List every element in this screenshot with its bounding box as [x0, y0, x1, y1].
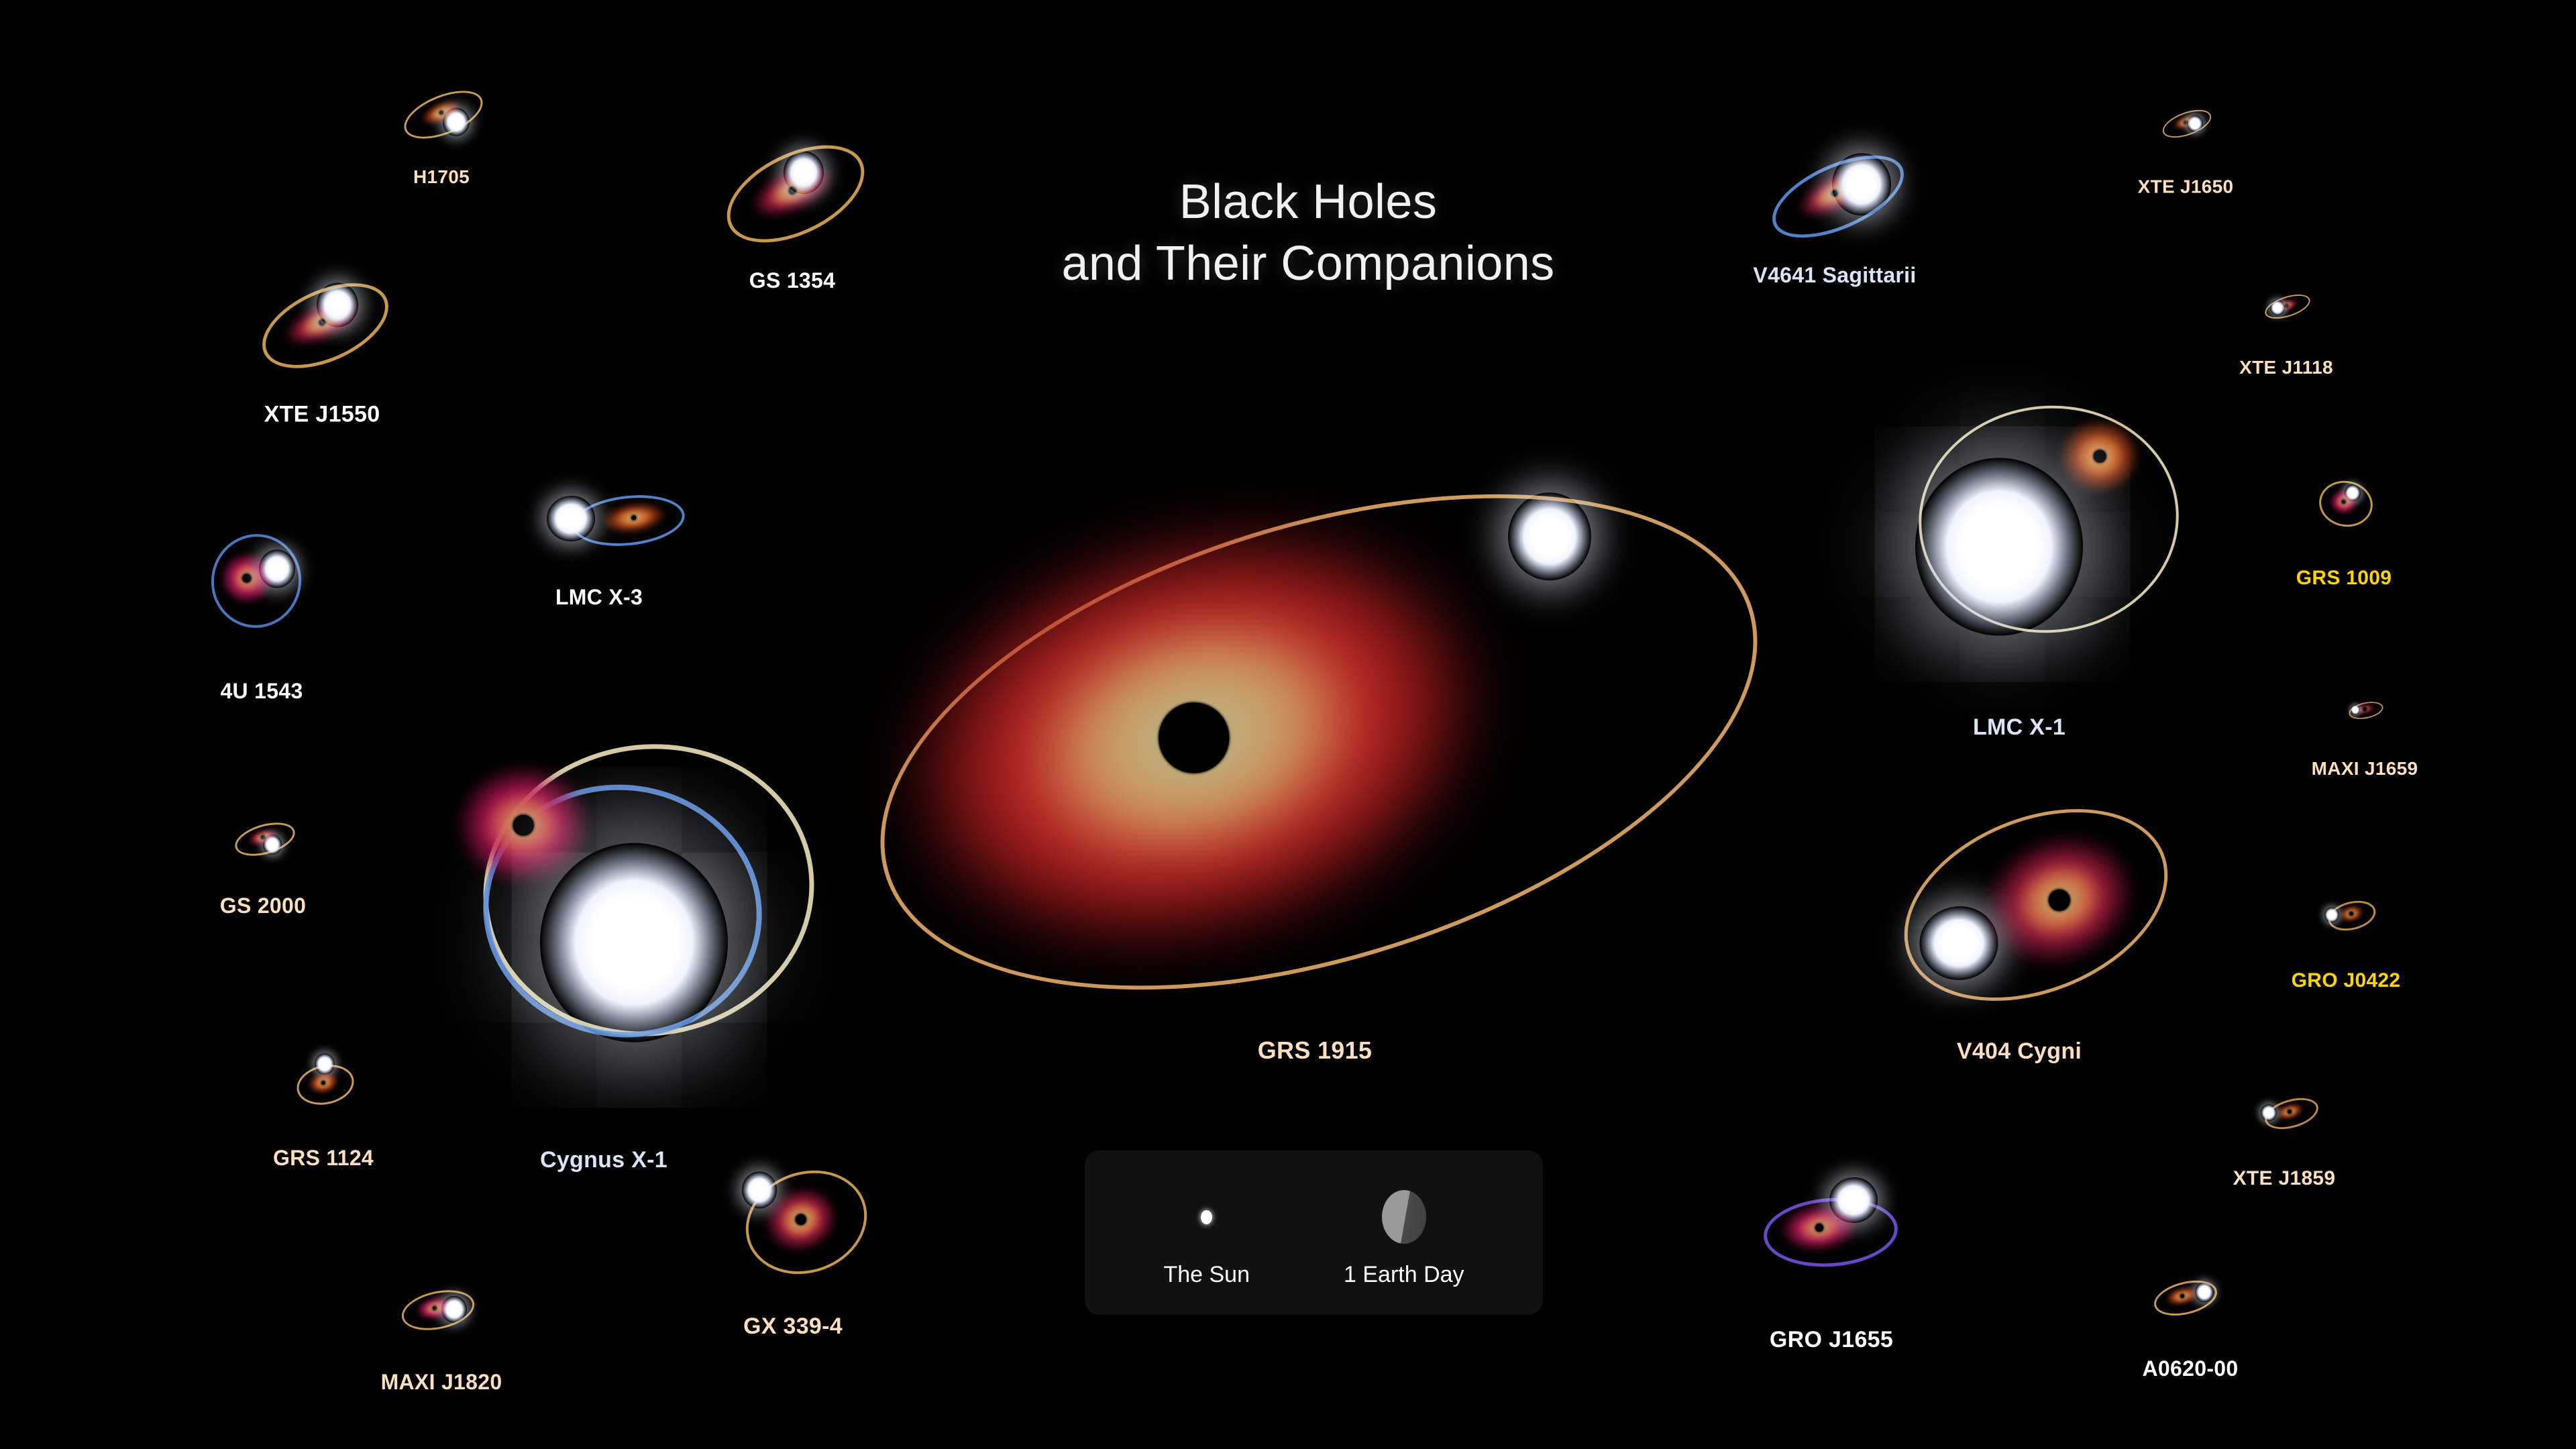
system-illustration	[205, 531, 319, 625]
system-illustration	[229, 815, 297, 859]
system-illustration	[2254, 1093, 2314, 1130]
system-label: LMC X-1	[1973, 714, 2065, 741]
black-hole-system[interactable]: MAXI J1659	[2346, 698, 2383, 720]
system-label: MAXI J1659	[2312, 758, 2418, 780]
black-hole-system[interactable]: 4U 1543	[205, 531, 319, 625]
black-hole-system[interactable]: GS 2000	[229, 815, 297, 859]
black-hole-system[interactable]: GRS 1124	[290, 1051, 357, 1104]
system-illustration	[2346, 698, 2383, 720]
legend-item-sun: The Sun	[1163, 1177, 1250, 1288]
system-illustration	[1872, 812, 2167, 1013]
system-illustration	[2314, 478, 2374, 525]
black-hole-system[interactable]: V404 Cygni	[1872, 812, 2167, 1013]
black-hole-system[interactable]: GRO J0422	[2320, 896, 2372, 931]
system-illustration	[852, 483, 1778, 966]
black-hole-system[interactable]: A0620-00	[2153, 1275, 2227, 1318]
black-hole-system[interactable]: LMC X-1	[1878, 406, 2160, 654]
title-line-1: Black Holes	[1179, 175, 1438, 229]
system-illustration	[2320, 896, 2372, 931]
system-illustration	[401, 86, 482, 140]
black-hole-shadow	[513, 815, 534, 836]
system-label: V404 Cygni	[1957, 1038, 2082, 1065]
system-illustration	[290, 1051, 357, 1104]
legend-sun-label: The Sun	[1163, 1262, 1250, 1288]
system-label: 4U 1543	[220, 679, 303, 704]
system-label: GRS 1009	[2296, 567, 2392, 590]
system-label: Cygnus X-1	[540, 1147, 667, 1173]
legend-item-earth-day: 1 Earth Day	[1344, 1177, 1464, 1288]
black-hole-system[interactable]: V4641 Sagittarii	[1761, 143, 1909, 244]
system-illustration	[1761, 1172, 1902, 1273]
companion-star	[2351, 705, 2360, 715]
sky-canvas: Black Holes and Their Companions H1705GS…	[0, 0, 2576, 1449]
system-label: XTE J1859	[2233, 1167, 2336, 1190]
accretion-disk	[456, 765, 590, 885]
system-illustration	[722, 140, 863, 241]
black-hole-system[interactable]: Cygnus X-1	[436, 741, 771, 1057]
system-illustration	[1878, 406, 2160, 654]
system-label: GRS 1124	[273, 1146, 374, 1171]
companion-star	[441, 1296, 467, 1323]
system-label: GRO J0422	[2292, 969, 2401, 992]
black-hole-system[interactable]: XTE J1118	[2261, 289, 2311, 321]
system-label: XTE J1118	[2239, 357, 2333, 378]
companion-star	[784, 151, 824, 194]
companion-star	[547, 496, 595, 541]
black-hole-system[interactable]: XTE J1859	[2254, 1093, 2314, 1130]
system-label: XTE J1650	[2138, 176, 2234, 197]
system-illustration	[399, 1281, 484, 1335]
system-label: A0620-00	[2143, 1356, 2239, 1381]
system-label: XTE J1550	[264, 401, 380, 427]
system-illustration	[726, 1162, 860, 1269]
companion-star	[263, 835, 282, 855]
companion-star	[742, 1171, 777, 1208]
black-hole-system[interactable]: H1705	[401, 86, 482, 140]
system-illustration	[1761, 143, 1909, 244]
companion-star	[315, 1053, 335, 1075]
companion-star	[1915, 458, 2083, 636]
system-illustration	[436, 741, 771, 1057]
black-hole-system[interactable]: GRO J1655	[1761, 1172, 1902, 1273]
system-illustration	[532, 481, 666, 555]
system-label: GS 2000	[220, 894, 306, 918]
system-label: GX 339-4	[743, 1313, 843, 1340]
black-hole-system[interactable]: GX 339-4	[726, 1162, 860, 1269]
system-label: MAXI J1820	[381, 1370, 502, 1395]
system-label: GRS 1915	[1258, 1036, 1373, 1065]
companion-star	[540, 843, 728, 1042]
black-hole-system[interactable]: GRS 1915	[852, 483, 1778, 966]
companion-star	[2195, 1282, 2214, 1302]
scale-legend: The Sun 1 Earth Day	[1085, 1150, 1543, 1315]
black-hole-system[interactable]: GRS 1009	[2314, 478, 2374, 525]
companion-star	[1829, 1177, 1878, 1223]
system-illustration	[258, 277, 386, 368]
companion-star	[443, 108, 470, 136]
black-hole-system[interactable]: LMC X-3	[532, 481, 666, 555]
earth-day-icon	[1382, 1177, 1426, 1256]
system-illustration	[2159, 104, 2212, 141]
system-label: GRO J1655	[1770, 1327, 1893, 1353]
companion-star	[1832, 153, 1891, 215]
accretion-disk	[2059, 419, 2140, 493]
companion-star	[259, 549, 295, 588]
legend-earth-day-label: 1 Earth Day	[1344, 1262, 1464, 1288]
title-line-2: and Their Companions	[1033, 233, 1583, 294]
page-title: Black Holes and Their Companions	[1033, 171, 1583, 294]
companion-star	[1508, 492, 1591, 580]
companion-star	[317, 283, 358, 327]
black-hole-system[interactable]: MAXI J1820	[399, 1281, 484, 1335]
black-hole-system[interactable]: GS 1354	[722, 140, 863, 241]
system-label: GS 1354	[749, 268, 835, 293]
system-label: LMC X-3	[555, 585, 643, 610]
system-label: H1705	[413, 166, 470, 188]
black-hole-shadow	[2094, 450, 2106, 463]
companion-star	[1920, 906, 1998, 980]
system-label: V4641 Sagittarii	[1753, 263, 1916, 288]
system-illustration	[2153, 1275, 2227, 1318]
sun-scale-icon	[1201, 1177, 1212, 1256]
black-hole-system[interactable]: XTE J1550	[258, 277, 386, 368]
black-hole-system[interactable]: XTE J1650	[2159, 104, 2212, 141]
system-illustration	[2261, 289, 2311, 321]
